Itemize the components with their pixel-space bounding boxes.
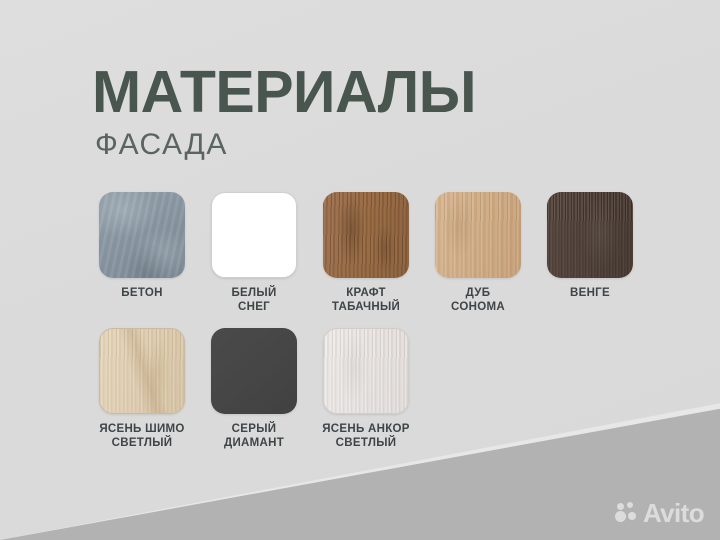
material-label: ДУБ СОНОМА (451, 287, 505, 314)
material-item-yasen-shimo-svetly[interactable]: ЯСЕНЬ ШИМО СВЕТЛЫЙ (88, 328, 196, 450)
material-label: ЯСЕНЬ ШИМО СВЕТЛЫЙ (99, 423, 184, 450)
swatch-bely-sneg[interactable] (211, 192, 297, 278)
swatch-row-1: БЕТОН БЕЛЫЙ СНЕГ КРАФТ ТАБАЧНЫЙ ДУБ СОНО… (88, 192, 658, 314)
swatch-yasen-shimo-svetly[interactable] (99, 328, 185, 414)
material-swatch-grid: БЕТОН БЕЛЫЙ СНЕГ КРАФТ ТАБАЧНЫЙ ДУБ СОНО… (88, 192, 658, 450)
swatch-dub-sonoma[interactable] (435, 192, 521, 278)
material-label: БЕЛЫЙ СНЕГ (231, 287, 276, 314)
swatch-row-2: ЯСЕНЬ ШИМО СВЕТЛЫЙ СЕРЫЙ ДИАМАНТ ЯСЕНЬ А… (88, 328, 658, 450)
swatch-beton[interactable] (99, 192, 185, 278)
avito-watermark: Avito (615, 500, 704, 526)
page-subtitle: ФАСАДА (95, 130, 476, 160)
avito-dots-icon (615, 502, 637, 524)
material-label: СЕРЫЙ ДИАМАНТ (224, 423, 284, 450)
material-label: ВЕНГЕ (570, 287, 610, 301)
page-title: МАТЕРИАЛЫ (92, 64, 476, 120)
page-header: МАТЕРИАЛЫ ФАСАДА (92, 64, 476, 160)
swatch-kraft-tabachny[interactable] (323, 192, 409, 278)
material-item-venge[interactable]: ВЕНГЕ (536, 192, 644, 301)
material-item-kraft-tabachny[interactable]: КРАФТ ТАБАЧНЫЙ (312, 192, 420, 314)
avito-watermark-text: Avito (643, 500, 704, 526)
material-label: ЯСЕНЬ АНКОР СВЕТЛЫЙ (322, 423, 410, 450)
poster-canvas: МАТЕРИАЛЫ ФАСАДА БЕТОН БЕЛЫЙ СНЕГ КРАФТ … (0, 0, 720, 540)
swatch-venge[interactable] (547, 192, 633, 278)
material-item-bely-sneg[interactable]: БЕЛЫЙ СНЕГ (200, 192, 308, 314)
swatch-sery-diamant[interactable] (211, 328, 297, 414)
swatch-yasen-ankor-svetly[interactable] (323, 328, 409, 414)
material-label: КРАФТ ТАБАЧНЫЙ (332, 287, 400, 314)
material-item-dub-sonoma[interactable]: ДУБ СОНОМА (424, 192, 532, 314)
material-item-sery-diamant[interactable]: СЕРЫЙ ДИАМАНТ (200, 328, 308, 450)
material-item-yasen-ankor-svetly[interactable]: ЯСЕНЬ АНКОР СВЕТЛЫЙ (312, 328, 420, 450)
material-item-beton[interactable]: БЕТОН (88, 192, 196, 301)
material-label: БЕТОН (121, 287, 162, 301)
